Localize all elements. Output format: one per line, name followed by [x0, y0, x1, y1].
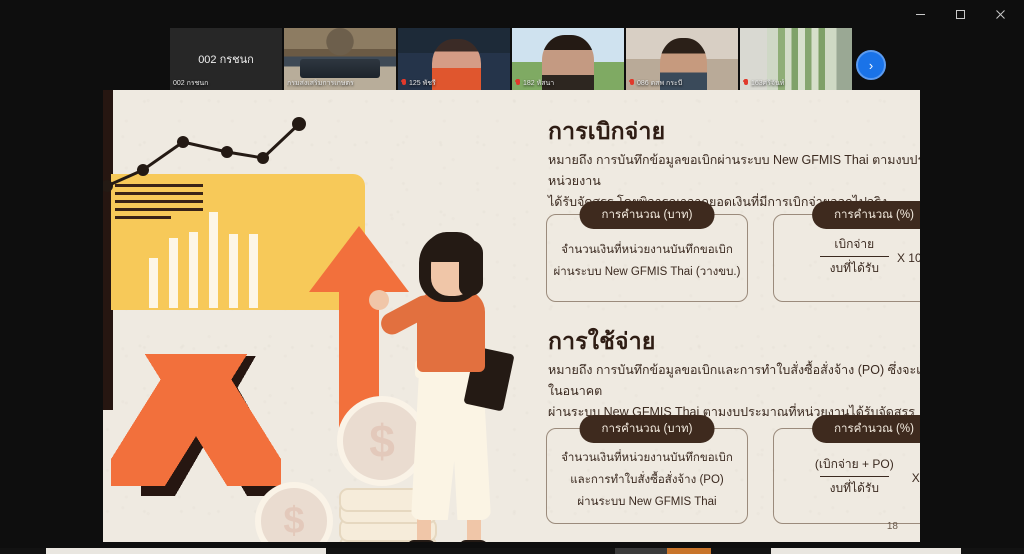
- body-line: หมายถึง การบันทึกข้อมูลขอเบิกผ่านระบบ Ne…: [548, 150, 920, 192]
- participant-name-text: 163ศรีจันท์: [751, 79, 784, 88]
- chart-bar: [169, 238, 178, 308]
- participant-name-text: 002 กรชนก: [173, 79, 208, 88]
- slide-illustration: $ $: [103, 90, 448, 542]
- participant-thumbnail[interactable]: 125 พัชรี: [398, 28, 510, 90]
- section-title-expenditure: การใช้จ่าย: [548, 324, 656, 360]
- taskbar: [0, 548, 1024, 554]
- section-title-disbursement: การเบิกจ่าย: [548, 114, 665, 150]
- muted-microphone-icon: [743, 79, 749, 88]
- participant-name-label: 182 หัสนา: [515, 79, 621, 88]
- shared-slide: $ $: [103, 90, 920, 542]
- participant-name-text: 182 หัสนา: [523, 79, 554, 88]
- close-icon[interactable]: [980, 0, 1020, 28]
- fraction-numerator: เบิกจ่าย: [824, 235, 884, 256]
- calc-line: จำนวนเงินที่หน่วยงานบันทึกขอเบิก: [547, 239, 747, 261]
- calc-box-title: การคำนวณ (บาท): [580, 201, 715, 229]
- calc-line: ผ่านระบบ New GFMIS Thai (วางขบ.): [547, 261, 747, 283]
- person-hand: [369, 290, 389, 310]
- next-participants-page-button[interactable]: ›: [856, 50, 886, 80]
- chart-bar: [149, 258, 158, 308]
- calc-line: ผ่านระบบ New GFMIS Thai: [547, 491, 747, 513]
- taskbar-window-a[interactable]: [46, 548, 326, 554]
- taskbar-window-b[interactable]: [615, 548, 667, 554]
- calc-box-formula: เบิกจ่าย งบที่ได้รับ X 100: [774, 235, 920, 278]
- maximize-icon[interactable]: [940, 0, 980, 28]
- section-body-expenditure: หมายถึง การบันทึกข้อมูลขอเบิกและการทำใบส…: [548, 360, 920, 423]
- chevron-right-icon: ›: [869, 58, 873, 73]
- fraction-multiplier: X 100: [897, 249, 920, 265]
- calc-box-lines: จำนวนเงินที่หน่วยงานบันทึกขอเบิก และการท…: [547, 447, 747, 513]
- title-bar: [0, 0, 1024, 28]
- calc-box-title: การคำนวณ (%): [812, 415, 920, 443]
- participant-big-name: 002 กรชนก: [198, 50, 254, 68]
- calc-box-formula: (เบิกจ่าย + PO) งบที่ได้รับ X 100: [774, 455, 920, 498]
- fraction-multiplier: X 100: [912, 469, 920, 485]
- fraction: เบิกจ่าย งบที่ได้รับ: [820, 235, 889, 278]
- calc-box-percent-disbursement: การคำนวณ (%) เบิกจ่าย งบที่ได้รับ X 100: [773, 214, 920, 302]
- chart-bar: [209, 212, 218, 308]
- minimize-icon[interactable]: [900, 0, 940, 28]
- body-line: หมายถึง การบันทึกข้อมูลขอเบิกและการทำใบส…: [548, 360, 920, 402]
- dollar-icon: $: [283, 500, 304, 543]
- window-controls: [900, 0, 1020, 28]
- participant-thumbnail[interactable]: 163ศรีจันท์: [740, 28, 852, 90]
- slide-page-number: 18: [887, 521, 898, 532]
- illustration-trend-line: [103, 112, 365, 202]
- fraction-denominator: งบที่ได้รับ: [820, 476, 889, 498]
- participant-name-text: 086 ดสพ กระบี่: [637, 79, 682, 88]
- calc-box-percent-expenditure: การคำนวณ (%) (เบิกจ่าย + PO) งบที่ได้รับ…: [773, 428, 920, 524]
- muted-microphone-icon: [515, 79, 521, 88]
- slide-content: การเบิกจ่าย หมายถึง การบันทึกข้อมูลขอเบิ…: [443, 90, 920, 542]
- participant-thumbnail[interactable]: กรมส่งเสริมการเกษตร: [284, 28, 396, 90]
- fraction-denominator: งบที่ได้รับ: [820, 256, 889, 278]
- zoom-meeting-window: 002 กรชนก 002 กรชนก กรมส่งเสริมการเกษตร …: [0, 0, 1024, 554]
- participant-thumbnail[interactable]: 182 หัสนา: [512, 28, 624, 90]
- participant-name-label: กรมส่งเสริมการเกษตร: [287, 79, 393, 88]
- fraction: (เบิกจ่าย + PO) งบที่ได้รับ: [805, 455, 904, 498]
- chart-bar: [189, 232, 198, 308]
- calc-box-baht-disbursement: การคำนวณ (บาท) จำนวนเงินที่หน่วยงานบันทึ…: [546, 214, 748, 302]
- illustration-arrow-head: [309, 226, 409, 292]
- calc-box-baht-expenditure: การคำนวณ (บาท) จำนวนเงินที่หน่วยงานบันทึ…: [546, 428, 748, 524]
- participant-name-label: 002 กรชนก: [173, 79, 279, 88]
- participant-name-label: 125 พัชรี: [401, 79, 507, 88]
- taskbar-window-c[interactable]: [667, 548, 711, 554]
- calc-line: และการทำใบสั่งซื้อสั่งจ้าง (PO): [547, 469, 747, 491]
- calc-box-lines: จำนวนเงินที่หน่วยงานบันทึกขอเบิก ผ่านระบ…: [547, 239, 747, 283]
- calc-line: จำนวนเงินที่หน่วยงานบันทึกขอเบิก: [547, 447, 747, 469]
- participant-name-label: 086 ดสพ กระบี่: [629, 79, 735, 88]
- illustration-bar-chart: [149, 210, 279, 308]
- participant-name-label: 163ศรีจันท์: [743, 79, 849, 88]
- participant-thumbnail[interactable]: 002 กรชนก 002 กรชนก: [170, 28, 282, 90]
- participant-name-text: 125 พัชรี: [409, 79, 436, 88]
- taskbar-window-d[interactable]: [771, 548, 961, 554]
- muted-microphone-icon: [629, 79, 635, 88]
- illustration-zigzag-orange: [111, 354, 281, 486]
- person-shoe: [407, 540, 437, 542]
- participant-name-text: กรมส่งเสริมการเกษตร: [287, 79, 354, 88]
- muted-microphone-icon: [401, 79, 407, 88]
- chart-bar: [229, 234, 238, 308]
- fraction-numerator: (เบิกจ่าย + PO): [805, 455, 904, 476]
- participant-filmstrip: 002 กรชนก 002 กรชนก กรมส่งเสริมการเกษตร …: [170, 28, 855, 90]
- participant-thumbnail[interactable]: 086 ดสพ กระบี่: [626, 28, 738, 90]
- chart-bar: [249, 234, 258, 308]
- calc-box-title: การคำนวณ (บาท): [580, 415, 715, 443]
- dollar-icon: $: [369, 414, 395, 468]
- calc-box-title: การคำนวณ (%): [812, 201, 920, 229]
